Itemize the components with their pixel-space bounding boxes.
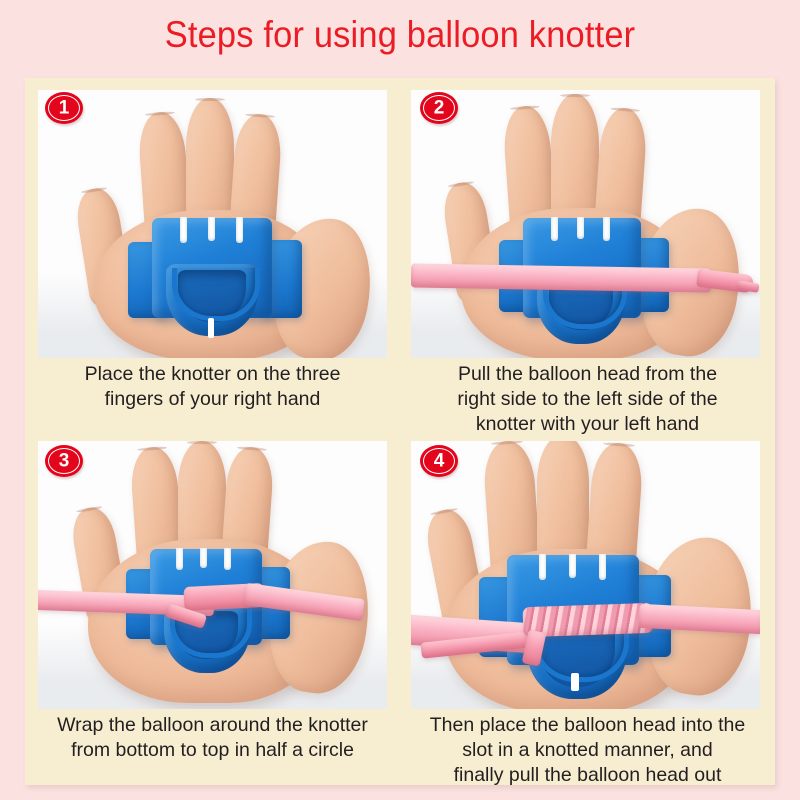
knotter-tooth-gap bbox=[236, 217, 243, 243]
step-number-3: 3 bbox=[59, 451, 70, 470]
knotter-tooth-gap bbox=[603, 217, 610, 241]
caption-line: Wrap the balloon around the knotter bbox=[33, 713, 392, 738]
caption-line: Pull the balloon head from the bbox=[408, 362, 767, 387]
knotter-tooth-gap bbox=[599, 554, 606, 580]
knotter-teeth bbox=[130, 218, 294, 268]
knotter-tooth-gap bbox=[208, 217, 215, 241]
knotter-tooth-gap bbox=[180, 217, 187, 243]
step-number-2: 2 bbox=[434, 98, 445, 117]
caption-line: slot in a knotted manner, and bbox=[408, 738, 767, 763]
caption-line: Then place the balloon head into the bbox=[408, 713, 767, 738]
caption-line: right side to the left side of the bbox=[408, 387, 767, 412]
step-photo-2 bbox=[411, 90, 760, 358]
steps-board: 1 bbox=[25, 78, 775, 785]
page-title: Steps for using balloon knotter bbox=[165, 14, 636, 56]
step-panel-1: 1 bbox=[25, 78, 400, 431]
knotter-tooth-gap bbox=[176, 548, 183, 570]
step-panel-4: 4 bbox=[400, 431, 775, 784]
step-badge-4: 4 bbox=[420, 445, 458, 477]
step-caption-2: Pull the balloon head from the right sid… bbox=[408, 362, 767, 437]
knotter-slot bbox=[208, 318, 214, 338]
infographic-root: Steps for using balloon knotter 1 bbox=[0, 0, 800, 800]
step-badge-2: 2 bbox=[420, 92, 458, 124]
knotter-tooth-gap bbox=[224, 548, 231, 570]
knotter-slot bbox=[571, 673, 579, 691]
caption-line: from bottom to top in half a circle bbox=[33, 738, 392, 763]
photo-scene-4 bbox=[411, 441, 760, 709]
page-title-bar: Steps for using balloon knotter bbox=[0, 0, 800, 70]
step-number-1: 1 bbox=[59, 98, 70, 117]
knotter-tooth-gap bbox=[200, 548, 207, 568]
photo-scene-3 bbox=[38, 441, 387, 709]
balloon-knotter bbox=[130, 218, 294, 336]
step-caption-1: Place the knotter on the three fingers o… bbox=[33, 362, 392, 412]
step-number-4: 4 bbox=[434, 451, 445, 470]
step-photo-1 bbox=[38, 90, 387, 358]
caption-line: Place the knotter on the three bbox=[33, 362, 392, 387]
step-photo-3 bbox=[38, 441, 387, 709]
step-caption-3: Wrap the balloon around the knotter from… bbox=[33, 713, 392, 763]
step-caption-4: Then place the balloon head into the slo… bbox=[408, 713, 767, 788]
step-panel-3: 3 bbox=[25, 431, 400, 784]
knotter-teeth bbox=[503, 218, 661, 269]
knotter-tooth-gap bbox=[539, 554, 546, 580]
caption-line: finally pull the balloon head out bbox=[408, 763, 767, 788]
step-panel-2: 2 bbox=[400, 78, 775, 431]
step-badge-1: 1 bbox=[45, 92, 83, 124]
caption-line: fingers of your right hand bbox=[33, 387, 392, 412]
step-photo-4 bbox=[411, 441, 760, 709]
knotter-tooth-gap bbox=[551, 217, 558, 241]
step-badge-3: 3 bbox=[45, 445, 83, 477]
photo-scene-2 bbox=[411, 90, 760, 358]
knotter-tooth-gap bbox=[577, 217, 584, 239]
photo-scene-1 bbox=[38, 90, 387, 358]
knotter-tooth-gap bbox=[569, 554, 576, 578]
